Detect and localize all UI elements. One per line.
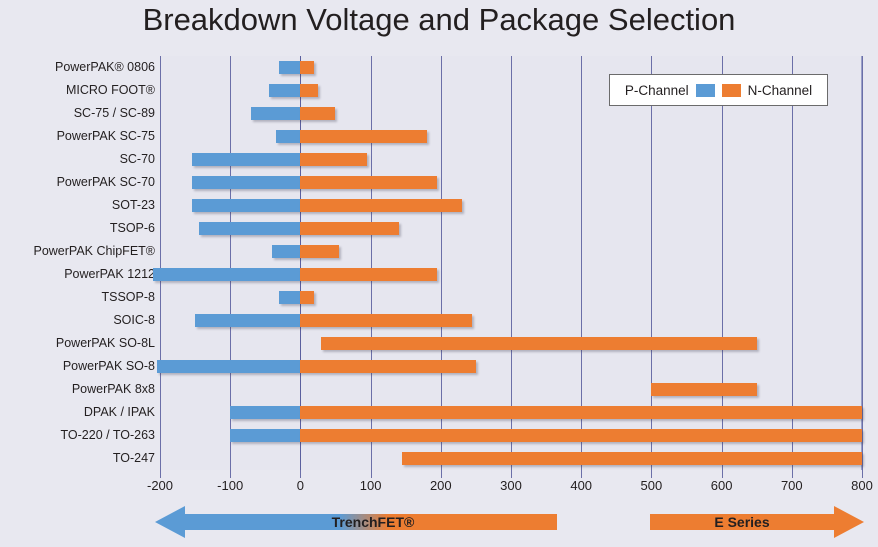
x-axis-tick (371, 470, 372, 478)
bar-p-channel (195, 314, 300, 327)
bar-n-channel (300, 84, 318, 97)
y-axis-label: PowerPAK 1212 (0, 263, 155, 286)
y-axis-label: TSOP-6 (0, 217, 155, 240)
y-axis-label: PowerPAK SO-8 (0, 355, 155, 378)
x-axis-tick (511, 470, 512, 478)
legend-swatch-p-channel (696, 84, 715, 97)
y-axis-label: DPAK / IPAK (0, 401, 155, 424)
legend: P-Channel N-Channel (609, 74, 828, 106)
y-axis-label: PowerPAK SC-75 (0, 125, 155, 148)
bar-row (160, 217, 862, 240)
x-axis-tick (722, 470, 723, 478)
x-axis-tick (300, 470, 301, 478)
legend-label-n-channel: N-Channel (748, 83, 813, 98)
bar-p-channel (230, 406, 300, 419)
y-axis-label: PowerPAK SC-70 (0, 171, 155, 194)
y-axis-label: SC-70 (0, 148, 155, 171)
y-axis-label: TSSOP-8 (0, 286, 155, 309)
bar-p-channel (279, 291, 300, 304)
bar-p-channel (251, 107, 300, 120)
x-axis-tick-label: 100 (360, 478, 382, 493)
y-axis-label: SC-75 / SC-89 (0, 102, 155, 125)
bar-n-channel (300, 360, 476, 373)
y-axis-label: MICRO FOOT® (0, 79, 155, 102)
bar-row (160, 171, 862, 194)
y-axis-label: PowerPAK® 0806 (0, 56, 155, 79)
x-axis: -200-1000100200300400500600700800 (160, 470, 862, 504)
x-axis-tick-label: 600 (711, 478, 733, 493)
bar-row (160, 401, 862, 424)
bar-p-channel (272, 245, 300, 258)
bar-p-channel (153, 268, 300, 281)
bar-p-channel (269, 84, 301, 97)
x-axis-tick-label: 200 (430, 478, 452, 493)
bar-n-channel (300, 199, 461, 212)
x-axis-tick (441, 470, 442, 478)
bar-row (160, 424, 862, 447)
bar-p-channel (157, 360, 301, 373)
bar-n-channel (300, 314, 472, 327)
bar-p-channel (199, 222, 301, 235)
trenchfet-arrow-annotation: TrenchFET® (155, 503, 557, 541)
chart-root: Breakdown Voltage and Package Selection … (0, 0, 878, 547)
bar-n-channel (300, 107, 335, 120)
x-axis-tick-label: 0 (297, 478, 304, 493)
gridline-800 (862, 56, 863, 470)
x-axis-tick-label: 500 (641, 478, 663, 493)
bar-p-channel (279, 61, 300, 74)
bar-p-channel (192, 153, 301, 166)
legend-label-p-channel: P-Channel (625, 83, 689, 98)
bar-series (160, 56, 862, 470)
bar-n-channel (300, 291, 314, 304)
bar-n-channel (300, 406, 862, 419)
bar-n-channel (402, 452, 862, 465)
bar-n-channel (300, 245, 339, 258)
bar-row (160, 263, 862, 286)
bar-n-channel (300, 153, 367, 166)
x-axis-tick (862, 470, 863, 478)
bar-n-channel (321, 337, 756, 350)
bar-row (160, 125, 862, 148)
bar-p-channel (276, 130, 301, 143)
bar-p-channel (192, 176, 301, 189)
bar-n-channel (300, 61, 314, 74)
x-axis-tick-label: 300 (500, 478, 522, 493)
bar-n-channel (300, 268, 437, 281)
left-arrow-icon (155, 503, 557, 541)
bar-n-channel (300, 176, 437, 189)
y-axis-label: TO-247 (0, 447, 155, 470)
e-series-arrow-annotation: E Series (650, 503, 864, 541)
x-axis-tick (792, 470, 793, 478)
x-axis-tick (230, 470, 231, 478)
bar-p-channel (192, 199, 301, 212)
bar-row (160, 355, 862, 378)
x-axis-tick-label: 700 (781, 478, 803, 493)
bar-row (160, 148, 862, 171)
y-axis-label: SOIC-8 (0, 309, 155, 332)
bar-row (160, 332, 862, 355)
y-axis-label: SOT-23 (0, 194, 155, 217)
x-axis-tick (160, 470, 161, 478)
x-axis-tick (581, 470, 582, 478)
chart-title: Breakdown Voltage and Package Selection (0, 2, 878, 38)
y-axis-label: TO-220 / TO-263 (0, 424, 155, 447)
x-axis-tick (651, 470, 652, 478)
bar-row (160, 309, 862, 332)
bar-row (160, 286, 862, 309)
bar-n-channel (300, 429, 862, 442)
x-axis-tick-label: -100 (217, 478, 243, 493)
bar-row (160, 447, 862, 470)
bar-n-channel (300, 222, 398, 235)
right-arrow-icon (650, 503, 864, 541)
x-axis-tick-label: 400 (570, 478, 592, 493)
bar-row (160, 378, 862, 401)
legend-swatch-n-channel (722, 84, 741, 97)
x-axis-tick-label: 800 (851, 478, 873, 493)
y-axis-label: PowerPAK SO-8L (0, 332, 155, 355)
bar-p-channel (230, 429, 300, 442)
bar-n-channel (300, 130, 426, 143)
bar-n-channel (651, 383, 756, 396)
plot-area (160, 56, 862, 470)
y-axis-label: PowerPAK 8x8 (0, 378, 155, 401)
bar-row (160, 240, 862, 263)
x-axis-tick-label: -200 (147, 478, 173, 493)
bar-row (160, 194, 862, 217)
y-axis-labels: PowerPAK® 0806MICRO FOOT®SC-75 / SC-89Po… (0, 56, 155, 470)
y-axis-label: PowerPAK ChipFET® (0, 240, 155, 263)
